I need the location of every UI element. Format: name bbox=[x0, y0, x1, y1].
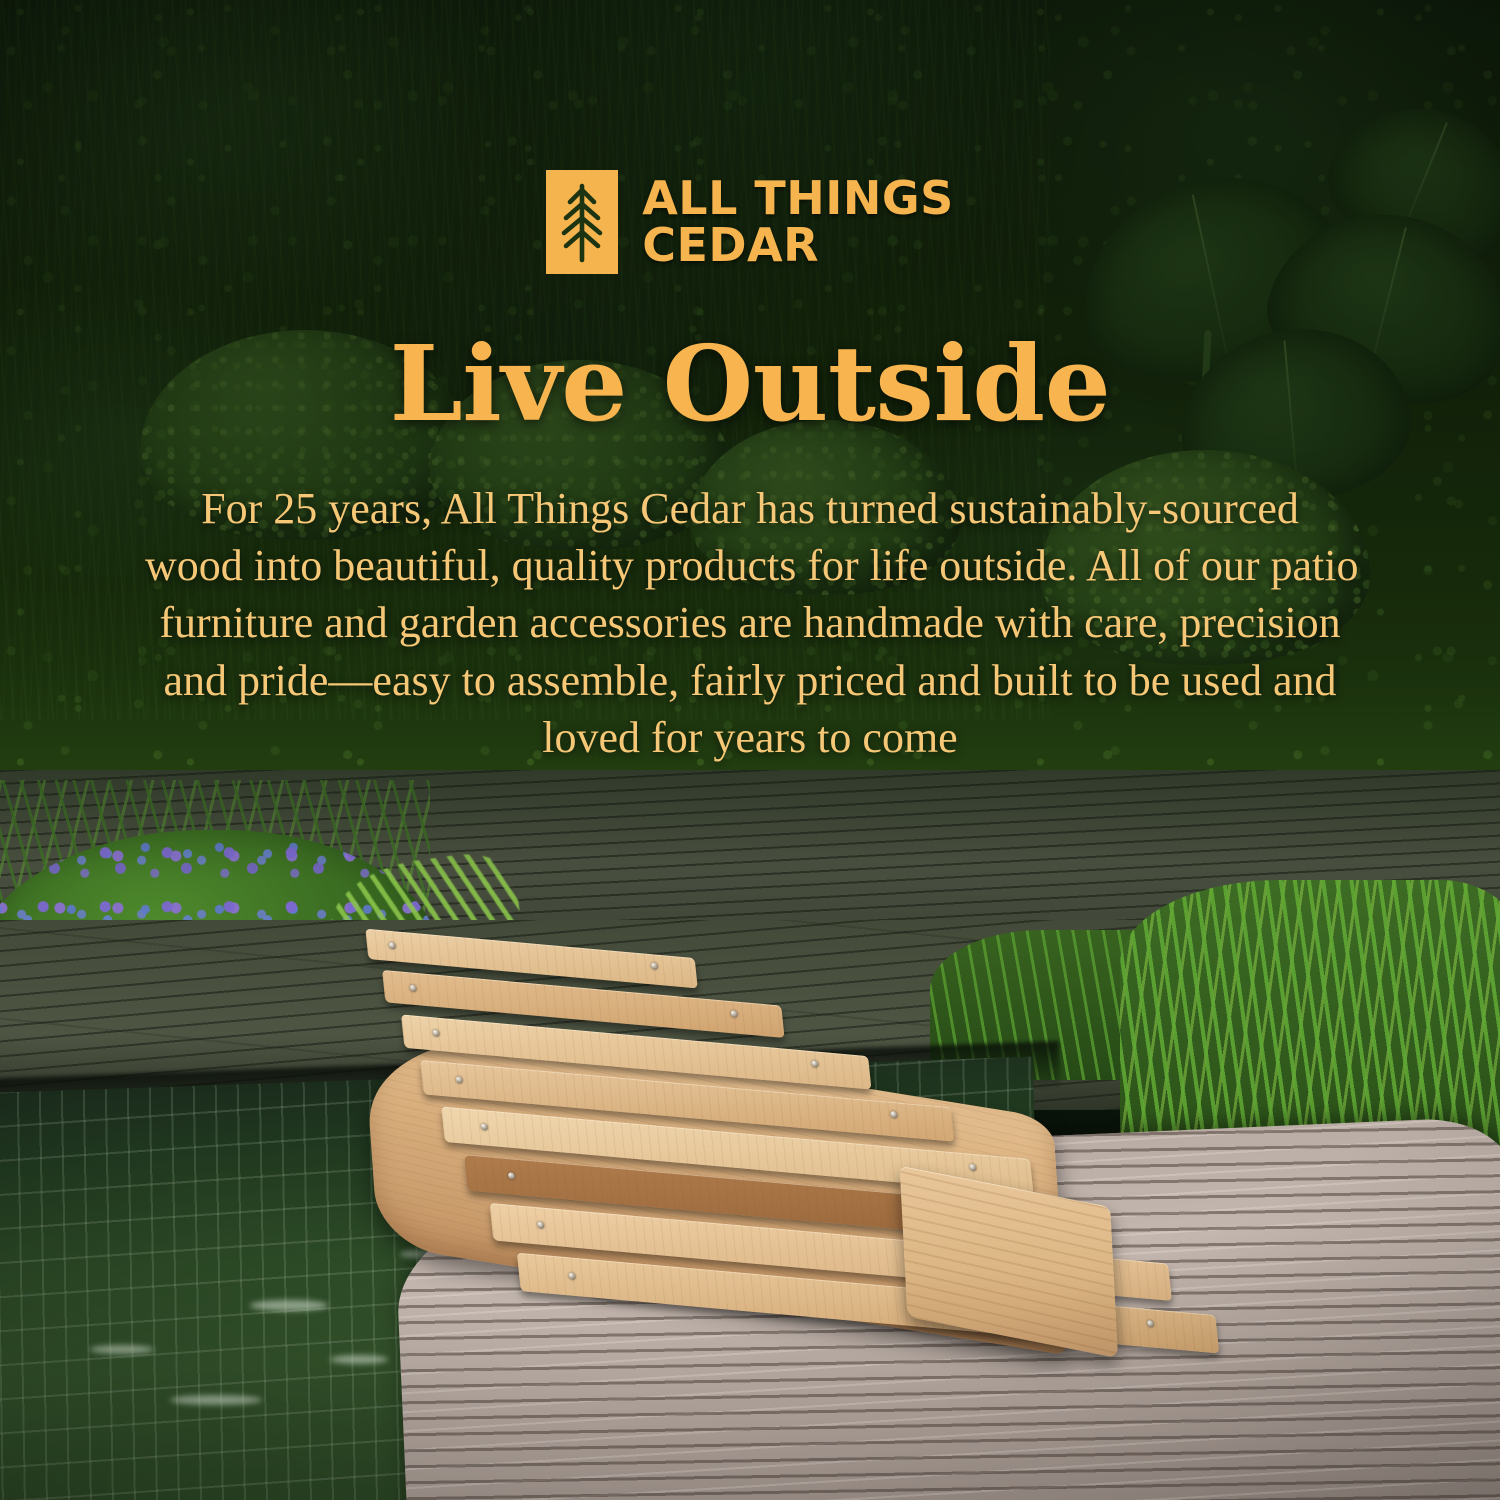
hero-content: ALL THINGS CEDAR Live Outside For 25 yea… bbox=[0, 0, 1500, 1500]
brand-wordmark: ALL THINGS CEDAR bbox=[642, 175, 954, 269]
hero-description: For 25 years, All Things Cedar has turne… bbox=[145, 480, 1355, 766]
brand-name-line-2: CEDAR bbox=[642, 222, 954, 269]
body-line: wood into beautiful, quality products fo… bbox=[145, 537, 1355, 594]
body-line: For 25 years, All Things Cedar has turne… bbox=[145, 480, 1355, 537]
page-title: Live Outside bbox=[390, 332, 1111, 436]
body-line: furniture and garden accessories are han… bbox=[145, 594, 1355, 651]
pine-tree-icon bbox=[546, 170, 618, 274]
promo-banner: All Things Cedar bbox=[0, 0, 1500, 1500]
brand-logo[interactable]: ALL THINGS CEDAR bbox=[546, 170, 954, 274]
brand-name-line-1: ALL THINGS bbox=[642, 175, 954, 222]
body-line: loved for years to come bbox=[145, 709, 1355, 766]
body-line: and pride—easy to assemble, fairly price… bbox=[145, 652, 1355, 709]
